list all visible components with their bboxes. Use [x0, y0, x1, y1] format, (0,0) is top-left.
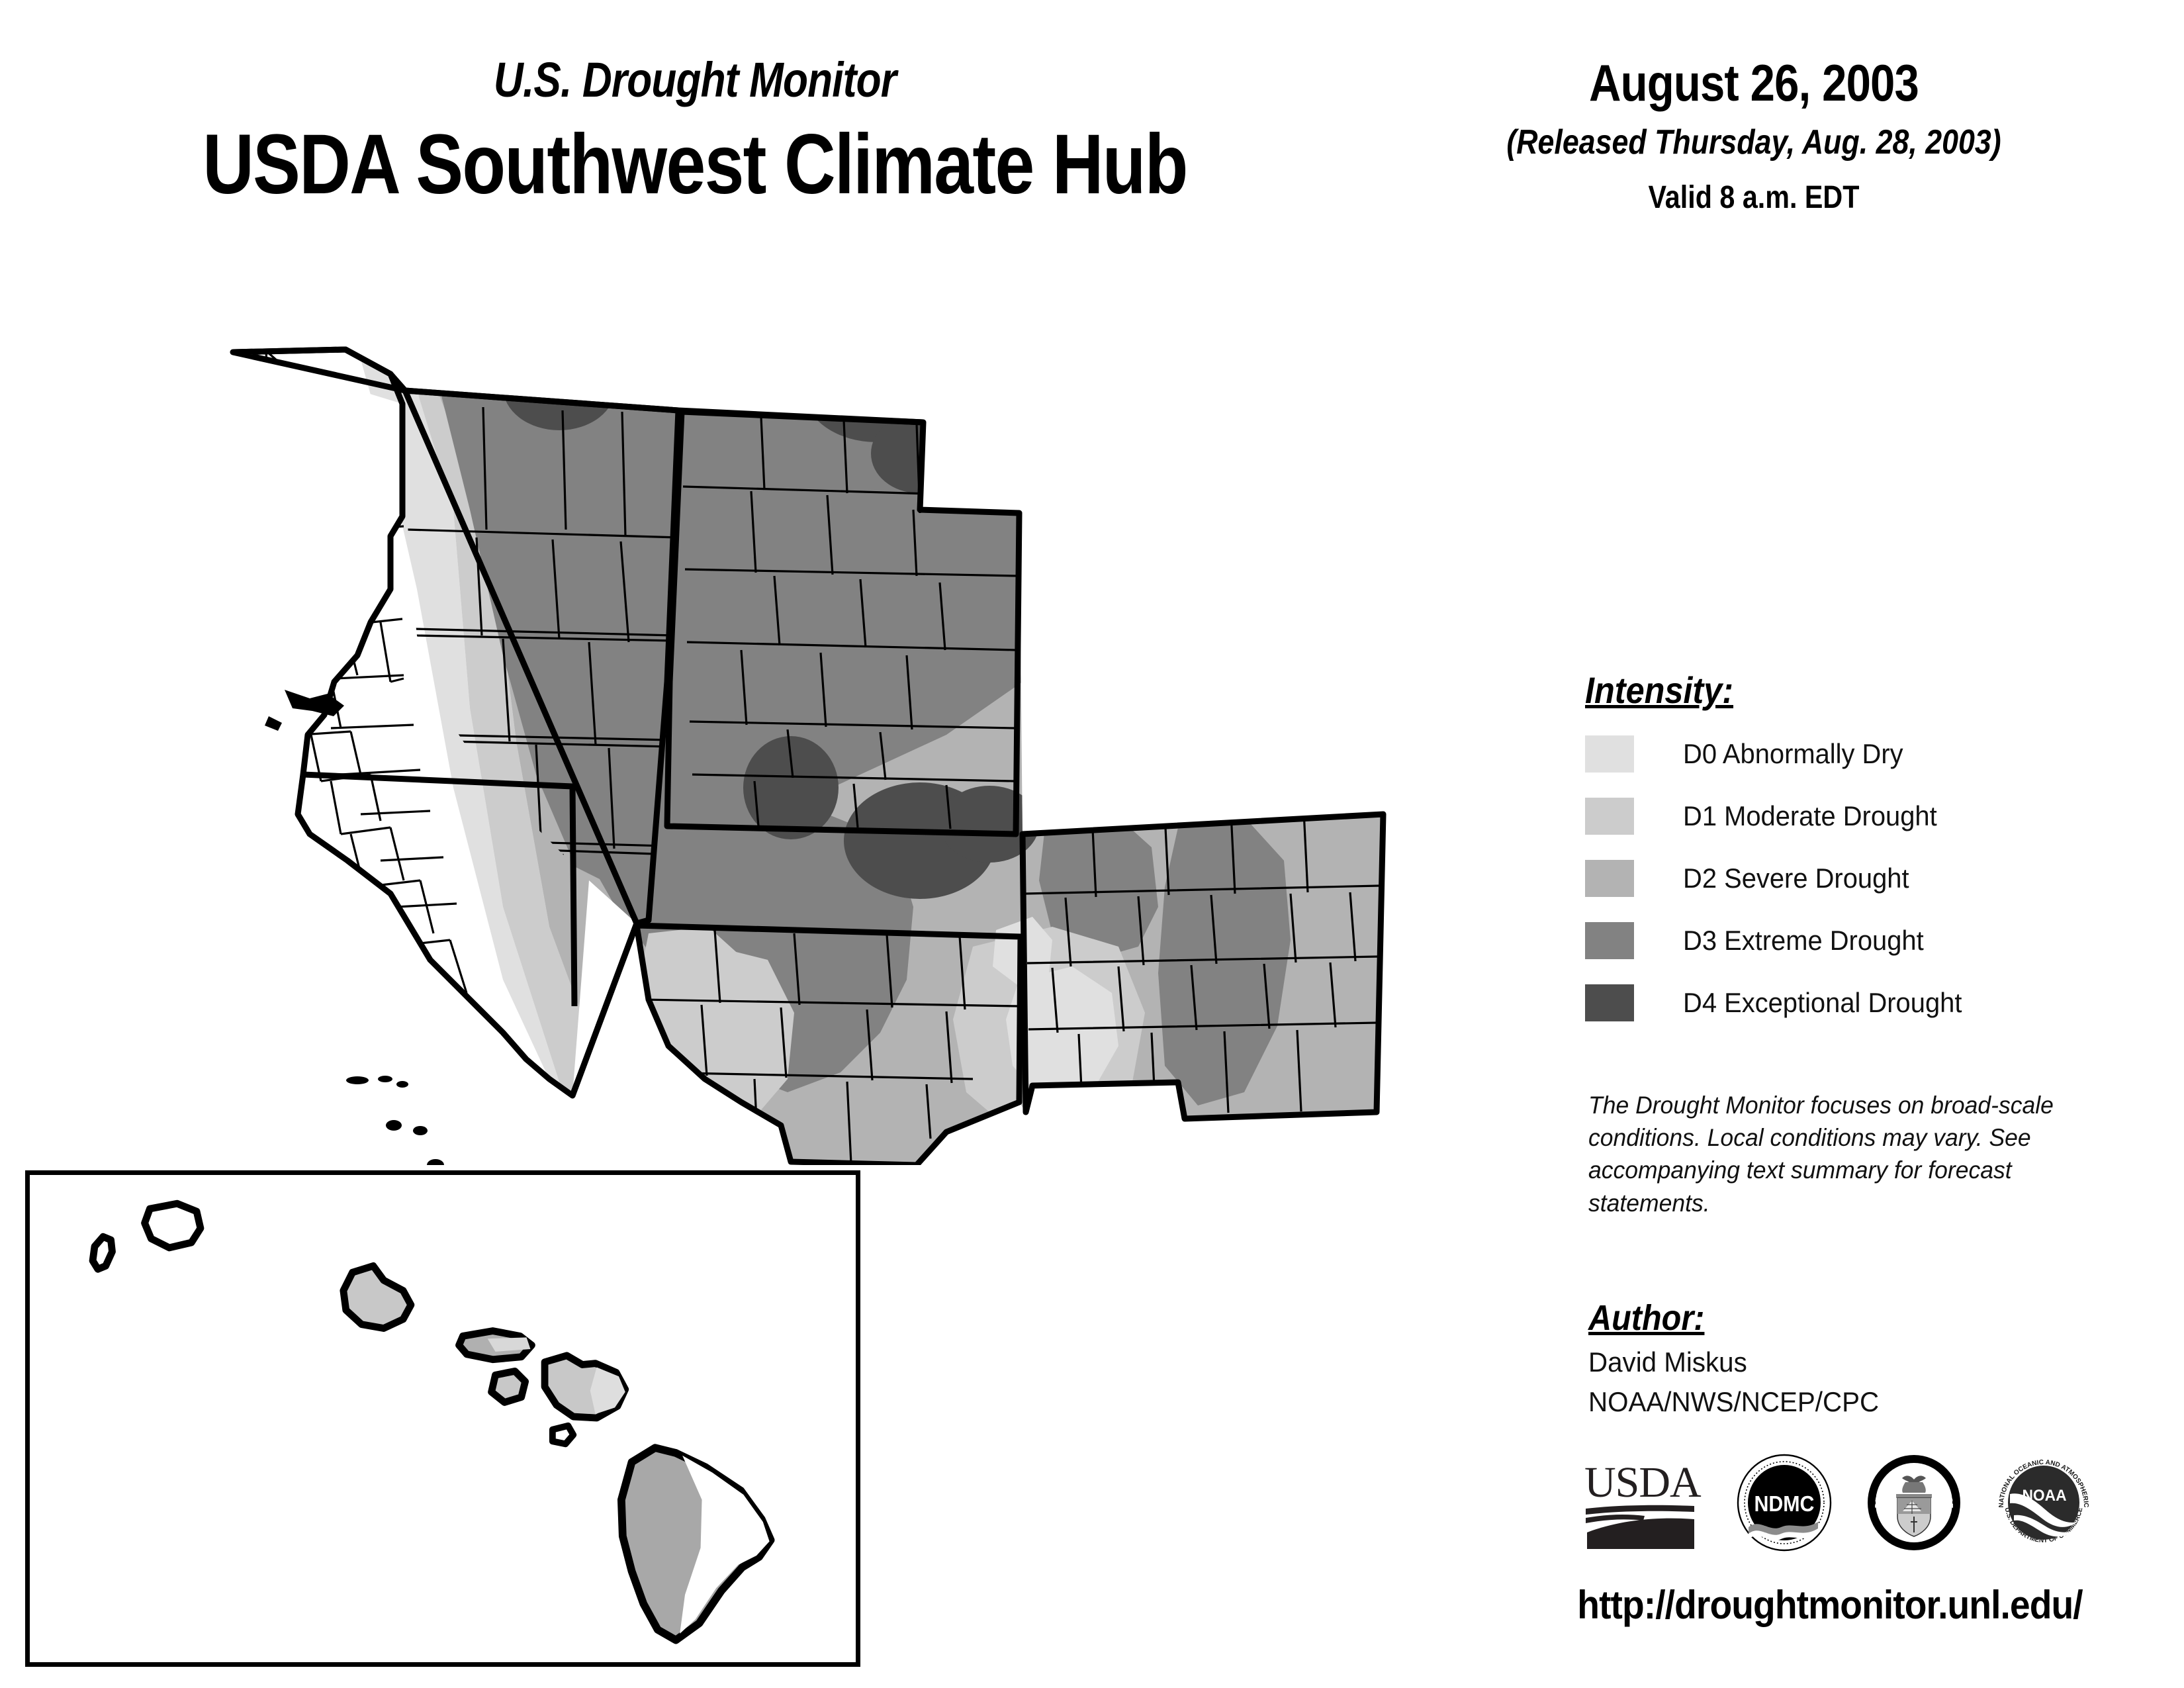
release-date: (Released Thursday, Aug. 28, 2003): [1486, 122, 2021, 162]
header: U.S. Drought Monitor USDA Southwest Clim…: [0, 0, 1390, 265]
drought-monitor-url[interactable]: http://droughtmonitor.unl.edu/: [1568, 1582, 2091, 1628]
logo-row: USDA NDMC DEPARTMENT OF COMMERCE UNITED …: [1582, 1440, 2111, 1566]
island-oahu: [343, 1266, 411, 1328]
svg-text:USDA: USDA: [1584, 1458, 1702, 1507]
channel-islands: [346, 1076, 444, 1165]
valid-date: August 26, 2003: [1486, 53, 2021, 113]
author-heading: Author:: [1588, 1297, 1704, 1338]
department-of-commerce-seal: DEPARTMENT OF COMMERCE UNITED STATES OF …: [1864, 1453, 1964, 1552]
legend-label-d2: D2 Severe Drought: [1683, 863, 1909, 894]
island-kahoolawe: [553, 1426, 573, 1444]
legend-label-d4: D4 Exceptional Drought: [1683, 987, 1962, 1019]
legend-row-d0: D0 Abnormally Dry: [1585, 727, 2115, 780]
valid-time: Valid 8 a.m. EDT: [1486, 179, 2021, 216]
author-block: Author: David Miskus NOAA/NWS/NCEP/CPC: [1588, 1297, 2118, 1418]
legend-row-d4: D4 Exceptional Drought: [1585, 976, 2115, 1029]
svg-text:NOAA: NOAA: [2022, 1486, 2066, 1504]
svg-text:NDMC: NDMC: [1754, 1491, 1814, 1516]
island-lanai: [492, 1371, 525, 1402]
program-title: U.S. Drought Monitor: [111, 52, 1279, 108]
author-affiliation: NOAA/NWS/NCEP/CPC: [1588, 1386, 2097, 1418]
hawaii-svg: [30, 1175, 856, 1662]
usda-logo: USDA: [1582, 1453, 1704, 1552]
legend-label-d0: D0 Abnormally Dry: [1683, 738, 1903, 770]
island-niihau: [93, 1237, 112, 1269]
legend-swatch-d4: [1585, 984, 1634, 1021]
noaa-logo: NATIONAL OCEANIC AND ATMOSPHERIC U.S. DE…: [1994, 1453, 2093, 1552]
legend-row-d1: D1 Moderate Drought: [1585, 790, 2115, 843]
legend-swatch-d0: [1585, 735, 1634, 773]
legend-row-d2: D2 Severe Drought: [1585, 852, 2115, 905]
svg-text:★: ★: [1876, 1499, 1884, 1509]
author-name: David Miskus: [1588, 1346, 2097, 1378]
svg-text:★: ★: [1944, 1499, 1952, 1509]
legend-title: Intensity:: [1585, 669, 1733, 712]
legend-swatch-d1: [1585, 798, 1634, 835]
legend-swatch-d3: [1585, 922, 1634, 959]
ndmc-logo: NDMC: [1735, 1453, 1834, 1552]
legend-swatch-d2: [1585, 860, 1634, 897]
legend-label-d3: D3 Extreme Drought: [1683, 925, 1924, 957]
drought-shading-layer: [192, 311, 1403, 1165]
legend-label-d1: D1 Moderate Drought: [1683, 800, 1937, 832]
legend-row-d3: D3 Extreme Drought: [1585, 914, 2115, 967]
map-svg: [192, 311, 1403, 1165]
hawaii-inset: [25, 1170, 860, 1667]
legend: Intensity: D0 Abnormally Dry D1 Moderate…: [1585, 669, 2115, 1039]
southwest-drought-map: [192, 311, 1403, 1165]
island-kauai: [145, 1203, 201, 1248]
disclaimer-text: The Drought Monitor focuses on broad-sca…: [1588, 1089, 2090, 1219]
date-block: August 26, 2003 (Released Thursday, Aug.…: [1443, 53, 2065, 216]
page-title: USDA Southwest Climate Hub: [111, 116, 1279, 213]
